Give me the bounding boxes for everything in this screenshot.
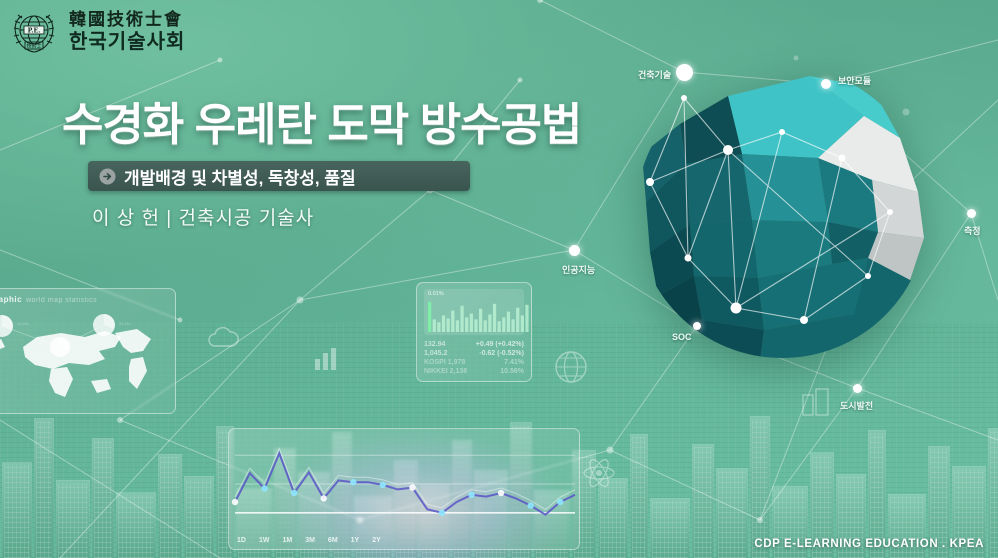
bar — [474, 319, 477, 332]
line-data-point — [439, 510, 445, 516]
bar — [442, 315, 445, 332]
bar — [511, 319, 514, 332]
ticker-change: 10.56% — [500, 368, 524, 375]
range-option-6m[interactable]: 6M — [328, 537, 338, 544]
time-range-selector[interactable]: 1D1W1M3M6M1Y2Y — [237, 537, 381, 544]
globe-icon — [552, 348, 590, 386]
line-data-point — [232, 499, 238, 505]
atom-icon — [582, 456, 616, 490]
svg-text:12.4%: 12.4% — [17, 321, 29, 326]
ticker-value: 1,045.2 — [424, 350, 447, 357]
logo-korean: 한국기술사회 — [69, 31, 185, 52]
line-data-point — [557, 499, 563, 505]
line-data-point — [528, 502, 534, 508]
svg-text:技術士: 技術士 — [26, 43, 41, 50]
circle-arrow-right-icon — [99, 168, 116, 185]
line-data-point — [350, 479, 356, 485]
line-chart-plot — [229, 429, 580, 550]
network-node-label: 도시발전 — [840, 399, 873, 412]
subtitle-text: 개발배경 및 차별성, 독창성, 품질 — [124, 164, 356, 189]
line-series-path-ghost — [235, 448, 575, 509]
bar — [498, 321, 501, 332]
network-node-label: SOC — [672, 332, 692, 342]
line-data-point — [409, 484, 415, 490]
bar-chart-bars — [428, 296, 530, 332]
world-map-icon: 12.4%31.2% 8.1%5.6% — [0, 289, 176, 414]
ticker-change: 7.41% — [504, 359, 524, 366]
ticker-value: 132.94 — [424, 341, 445, 348]
cloud-icon — [206, 326, 240, 352]
network-node-dot — [676, 64, 693, 81]
map-panel-caption: Infographicworld map statistics — [0, 295, 97, 304]
bar — [479, 309, 482, 332]
bar — [433, 319, 436, 332]
svg-text:8.1%: 8.1% — [73, 343, 83, 348]
bar — [428, 302, 431, 332]
presentation-slide: 건축기술보안모듈측정인공지능SOC도시발전 Infographicworld m… — [0, 0, 998, 558]
bar — [470, 314, 473, 332]
bar — [460, 306, 463, 332]
svg-text:5.6%: 5.6% — [135, 347, 145, 352]
range-option-1y[interactable]: 1Y — [351, 537, 360, 544]
range-option-2y[interactable]: 2Y — [372, 537, 381, 544]
low-poly-sphere-graphic — [632, 62, 932, 362]
network-node-dot — [967, 209, 976, 218]
bar — [507, 312, 510, 332]
line-data-point — [380, 482, 386, 488]
bar — [456, 320, 459, 332]
svg-text:31.2%: 31.2% — [119, 321, 131, 326]
bar — [488, 315, 491, 332]
line-data-point — [468, 492, 474, 498]
network-node-dot — [569, 245, 580, 256]
kpea-globe-wreath-emblem: P.E. 技術士 — [8, 6, 60, 58]
chart-bar-icon — [312, 346, 342, 372]
bar — [465, 317, 468, 332]
author-line: 이 상 헌 | 건축시공 기술사 — [92, 203, 314, 230]
network-node-dot — [853, 384, 862, 393]
bar — [451, 311, 454, 332]
line-data-point — [291, 490, 297, 496]
ticker-value: NIKKEI 2,138 — [424, 368, 467, 375]
line-data-point — [321, 495, 327, 501]
line-data-point — [498, 490, 504, 496]
network-node-dot — [693, 322, 701, 330]
bar-chart-infographic-panel: 0.01% 132.94+0.49 (+0.42%)1,045.2-0.62 (… — [416, 282, 532, 382]
subtitle-bar: 개발배경 및 차별성, 독창성, 품질 — [88, 161, 470, 191]
ticker-change: -0.62 (-0.52%) — [479, 350, 524, 357]
bar — [516, 308, 519, 332]
range-option-1w[interactable]: 1W — [259, 537, 270, 544]
world-map-infographic-panel: Infographicworld map statistics — [0, 288, 176, 414]
range-option-1m[interactable]: 1M — [282, 537, 292, 544]
page-title: 수경화 우레탄 도막 방수공법 — [62, 88, 581, 153]
building-icon — [800, 386, 832, 416]
network-node-dot — [821, 79, 831, 89]
bar — [525, 305, 528, 332]
ticker-change: +0.49 (+0.42%) — [476, 341, 524, 348]
line-chart-infographic-panel: 1D1W1M3M6M1Y2Y — [228, 428, 580, 550]
line-data-point — [261, 485, 267, 491]
bar — [447, 318, 450, 332]
emblem-initials: P.E. — [28, 28, 41, 35]
footer-credit: CDP E-LEARNING EDUCATION . KPEA — [754, 538, 984, 550]
organization-logo: P.E. 技術士 韓國技術士會 한국기술사회 — [8, 6, 185, 58]
network-node-label: 인공지능 — [562, 263, 595, 276]
range-option-1d[interactable]: 1D — [237, 537, 246, 544]
bar — [437, 322, 440, 332]
bar — [521, 315, 524, 332]
logo-hanja: 韓國技術士會 — [69, 12, 185, 30]
bar — [493, 304, 496, 332]
range-option-3m[interactable]: 3M — [305, 537, 315, 544]
ticker-value: KOSPI 1,978 — [424, 359, 465, 366]
network-node-label: 측정 — [964, 224, 981, 237]
network-node-label: 보안모듈 — [838, 74, 871, 87]
network-node-label: 건축기술 — [638, 68, 671, 81]
bar — [502, 317, 505, 332]
ticker-list: 132.94+0.49 (+0.42%)1,045.2-0.62 (-0.52%… — [424, 341, 524, 376]
bar — [484, 320, 487, 332]
